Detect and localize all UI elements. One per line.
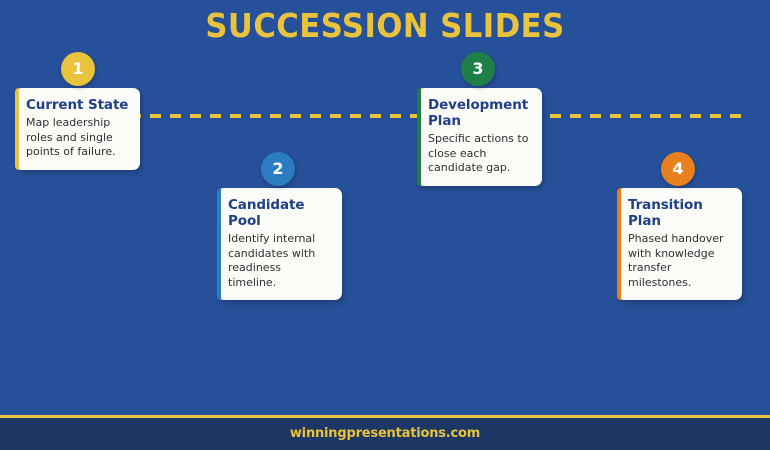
step-body-2: Identify internal candidates with readin… <box>228 232 331 290</box>
step-badge-4: 4 <box>661 152 695 186</box>
card-accent-bar-1 <box>15 88 19 170</box>
step-body-4: Phased handover with knowledge transfer … <box>628 232 731 290</box>
step-title-1: Current State <box>26 97 129 113</box>
card-accent-bar-4 <box>617 188 621 300</box>
step-title-4: Transition Plan <box>628 197 731 229</box>
step-body-3: Specific actions to close each candidate… <box>428 132 531 176</box>
card-accent-bar-2 <box>217 188 221 300</box>
step-badge-3: 3 <box>461 52 495 86</box>
step-body-1: Map leadership roles and single points o… <box>26 116 129 160</box>
step-card-3[interactable]: Development Plan Specific actions to clo… <box>417 88 542 186</box>
step-badge-1: 1 <box>61 52 95 86</box>
step-card-2[interactable]: Candidate Pool Identify internal candida… <box>217 188 342 300</box>
page-title: SUCCESSION SLIDES <box>27 6 743 46</box>
card-accent-bar-3 <box>417 88 421 186</box>
step-title-2: Candidate Pool <box>228 197 331 229</box>
footer-website-label: winningpresentations.com <box>0 418 770 450</box>
slide-canvas: SUCCESSION SLIDES 1 Current State Map le… <box>0 0 770 450</box>
step-card-1[interactable]: Current State Map leadership roles and s… <box>15 88 140 170</box>
step-card-4[interactable]: Transition Plan Phased handover with kno… <box>617 188 742 300</box>
footer-bar: winningpresentations.com <box>0 415 770 450</box>
step-badge-2: 2 <box>261 152 295 186</box>
step-title-3: Development Plan <box>428 97 531 129</box>
